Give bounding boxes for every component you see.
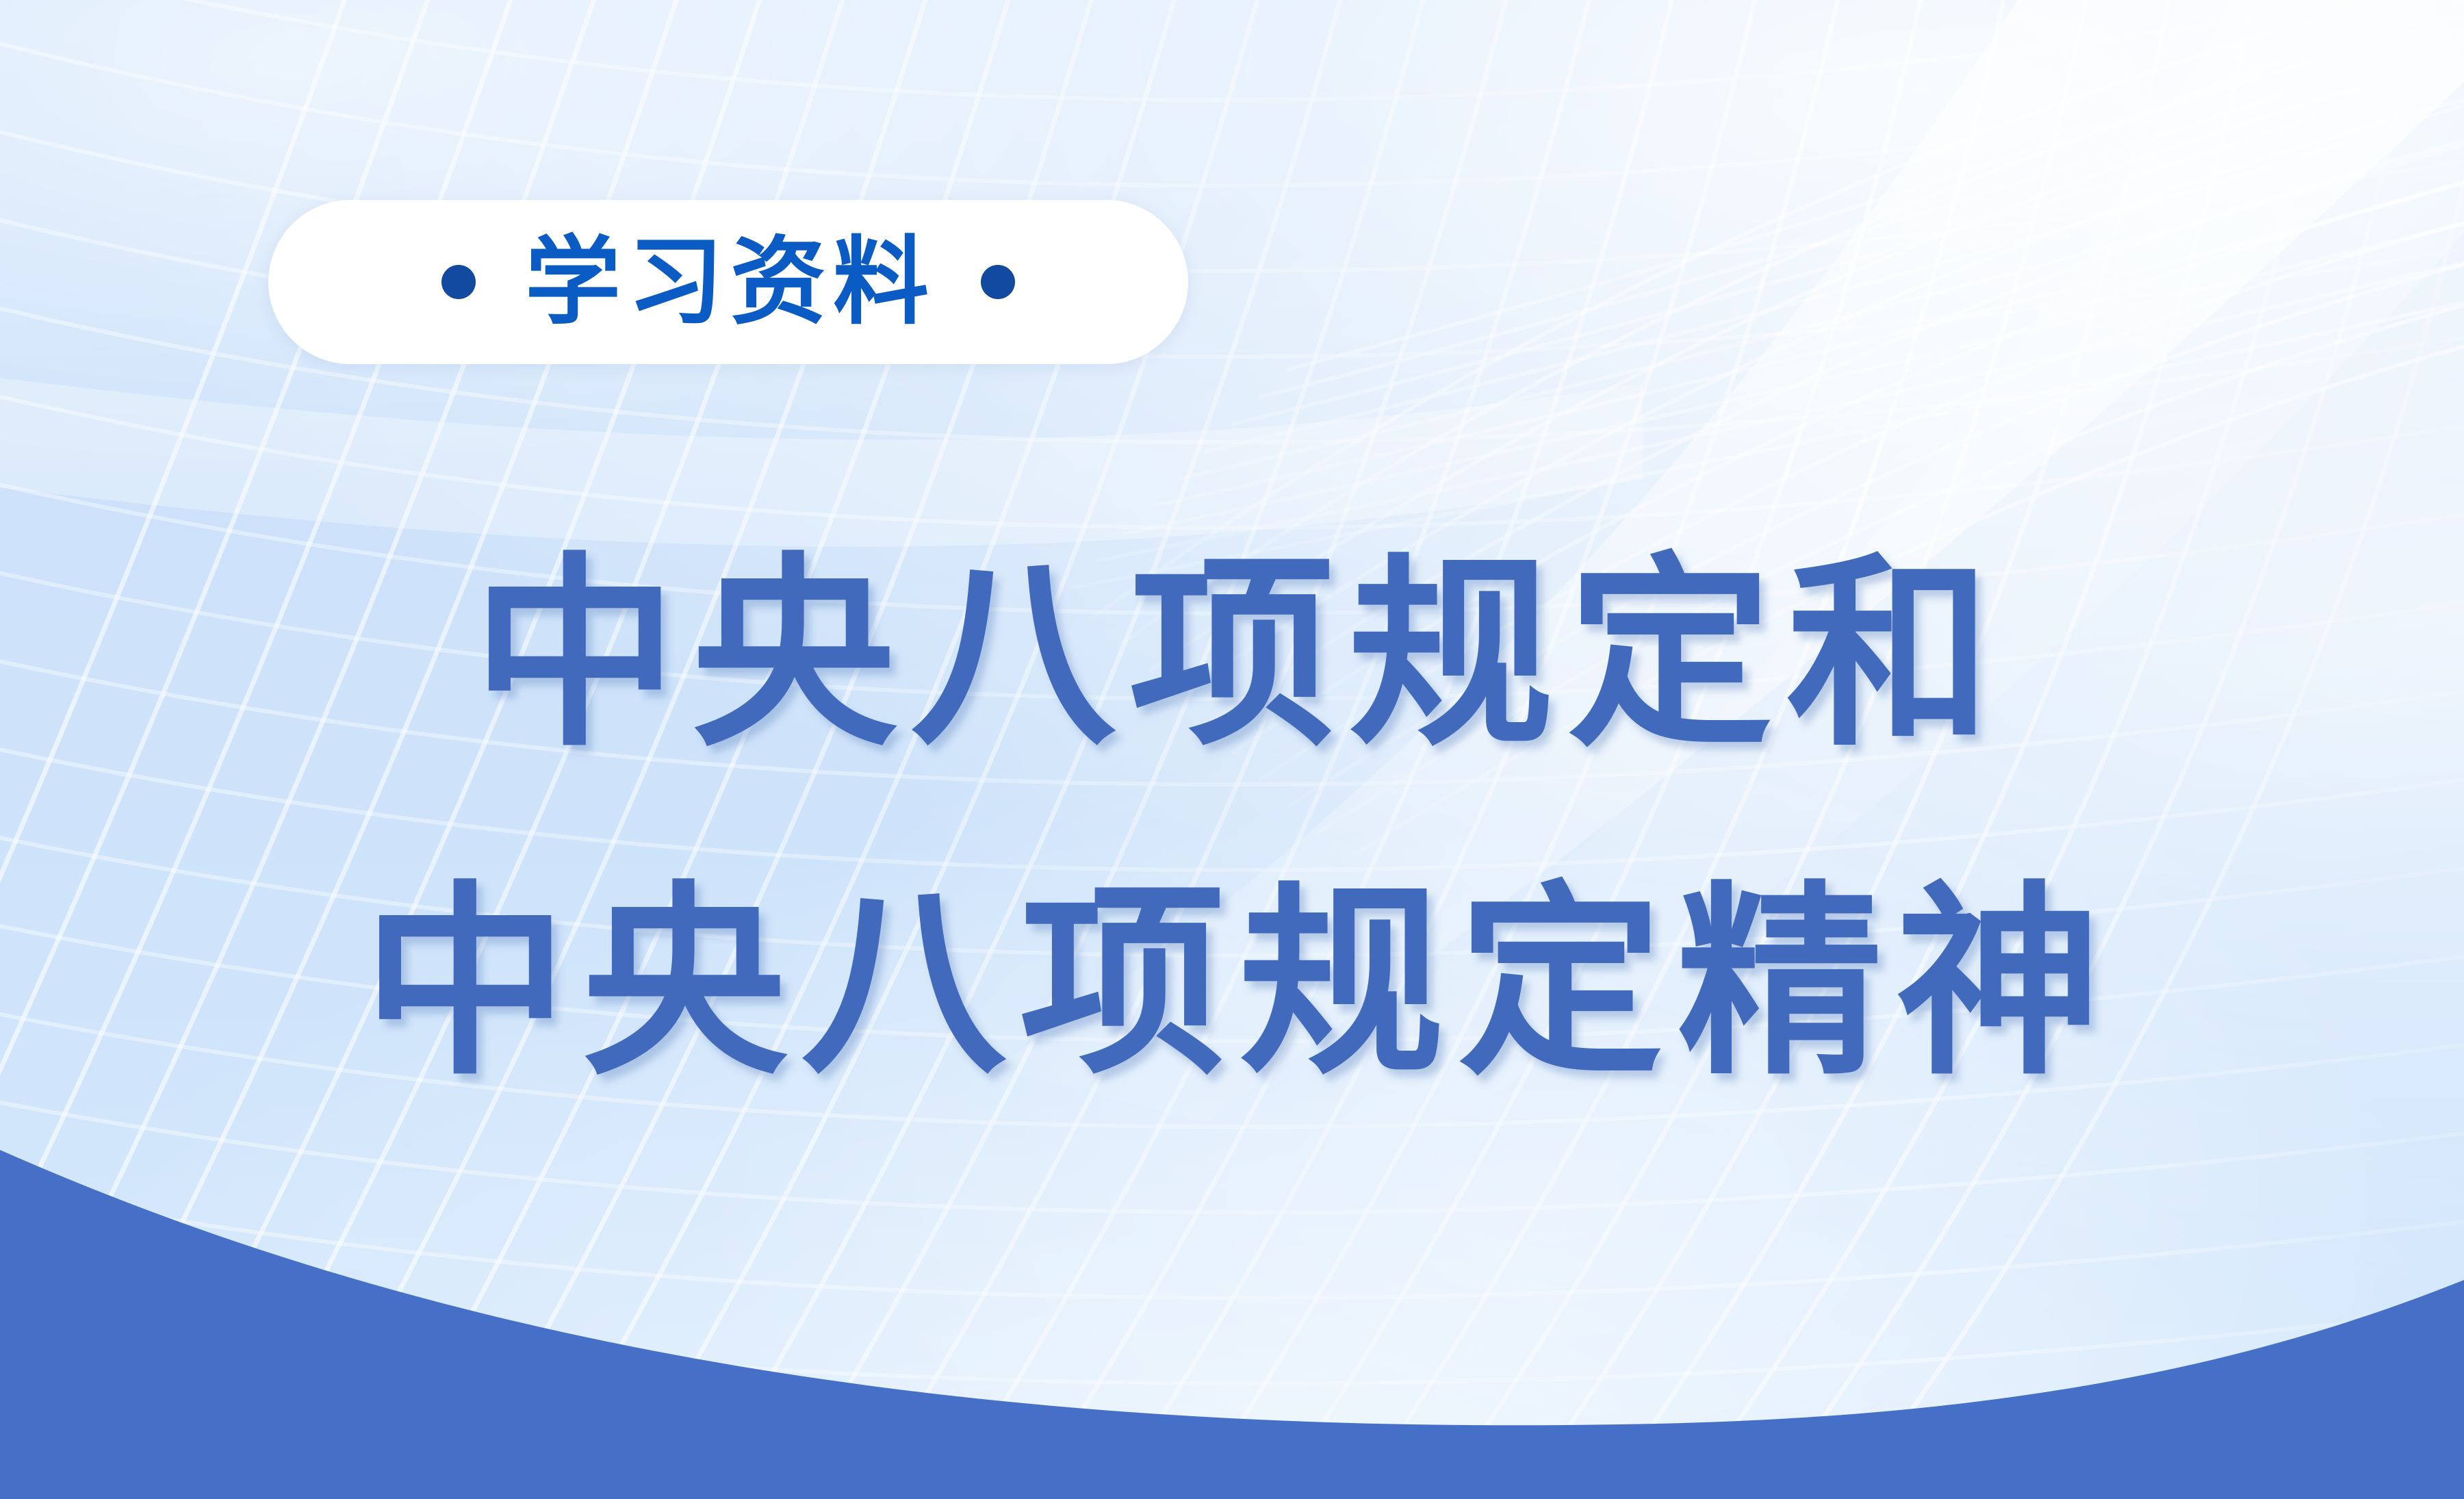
badge-label: 学习资料 xyxy=(521,234,936,330)
page-title-line-1: 中央八项规定和 xyxy=(0,552,2464,757)
badge-dot-right-icon xyxy=(981,265,1015,299)
bottom-wave-shape xyxy=(0,1116,2464,1499)
poster-canvas: 学习资料 中央八项规定和 中央八项规定精神 xyxy=(0,0,2464,1499)
page-title: 中央八项规定和 中央八项规定精神 xyxy=(0,552,2464,1086)
page-title-line-2: 中央八项规定精神 xyxy=(0,880,2464,1086)
badge-dot-left-icon xyxy=(441,265,476,299)
study-material-badge[interactable]: 学习资料 xyxy=(268,200,1188,364)
